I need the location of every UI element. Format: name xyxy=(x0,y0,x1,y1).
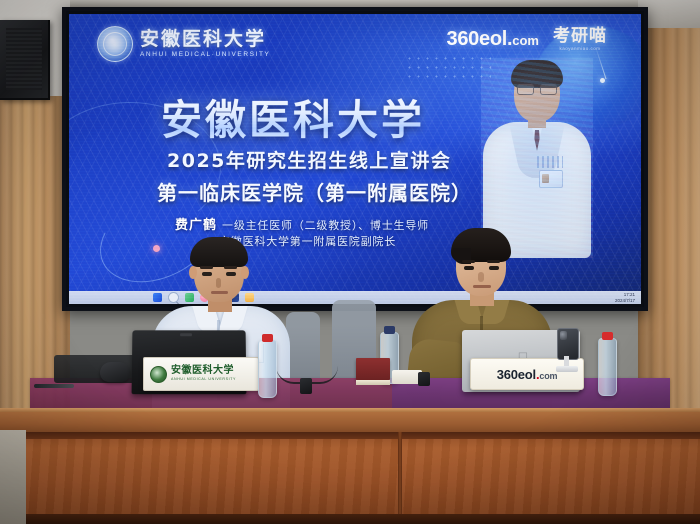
person-right-nose xyxy=(478,272,484,282)
floor-left xyxy=(0,430,26,524)
bottle-cap-right xyxy=(602,332,613,340)
table-base-shadow xyxy=(0,514,700,524)
person-right-eyebrow-left xyxy=(462,260,475,263)
eol-placard-com: com xyxy=(539,371,557,381)
person-left-nose xyxy=(216,278,221,288)
nameplate-emblem-icon xyxy=(150,366,167,383)
remote-control[interactable] xyxy=(300,378,312,394)
water-bottle-right[interactable] xyxy=(598,338,617,396)
person-left-eyebrow-right xyxy=(224,266,237,269)
speaker-grill xyxy=(6,28,42,90)
pen[interactable] xyxy=(34,384,74,388)
table-top xyxy=(0,412,700,434)
person-left-eye-right xyxy=(226,272,236,276)
bottle-cap-red xyxy=(262,334,273,342)
person-right-eye-right xyxy=(489,266,499,270)
person-right-hair xyxy=(451,228,511,262)
table-panel-seam xyxy=(398,432,402,524)
nameplate-name-en: ANHUI MEDICAL UNIVERSITY xyxy=(171,378,236,382)
person-left-hair xyxy=(190,237,248,267)
nameplate-text: 安徽医科大学 ANHUI MEDICAL UNIVERSITY xyxy=(171,366,236,382)
conference-room-photo: 安徽医科大学 ANHUI MEDICAL·UNIVERSITY 360eol.c… xyxy=(0,0,700,524)
led-display-screen: 安徽医科大学 ANHUI MEDICAL·UNIVERSITY 360eol.c… xyxy=(62,7,648,311)
person-left-ear-left xyxy=(189,266,197,279)
remote-control-secondary[interactable] xyxy=(418,372,430,386)
person-left-eye-left xyxy=(202,272,212,276)
nameplate-name-cn: 安徽医科大学 xyxy=(171,366,236,376)
person-left-mouth xyxy=(211,291,228,294)
wireless-mouse[interactable] xyxy=(100,362,130,382)
phone-stand-base xyxy=(556,366,578,372)
eol-placard-text: 360eol.com xyxy=(497,367,558,382)
university-nameplate: 安徽医科大学 ANHUI MEDICAL UNIVERSITY xyxy=(143,357,259,391)
bottle-cap-blue xyxy=(384,326,395,334)
red-notebook[interactable] xyxy=(356,358,390,380)
eol-placard-word: 360eol xyxy=(497,367,536,382)
person-right-eyebrow-right xyxy=(487,260,500,263)
person-left-eyebrow-left xyxy=(200,266,213,269)
table-front-panel xyxy=(0,432,700,524)
water-bottle-red-cap[interactable] xyxy=(258,340,277,398)
person-right-mouth xyxy=(473,285,491,288)
person-right-eye-left xyxy=(464,266,474,270)
wall-speaker-icon xyxy=(0,20,50,100)
phone-on-stand[interactable] xyxy=(556,328,578,372)
person-left-ear-right xyxy=(241,266,249,279)
